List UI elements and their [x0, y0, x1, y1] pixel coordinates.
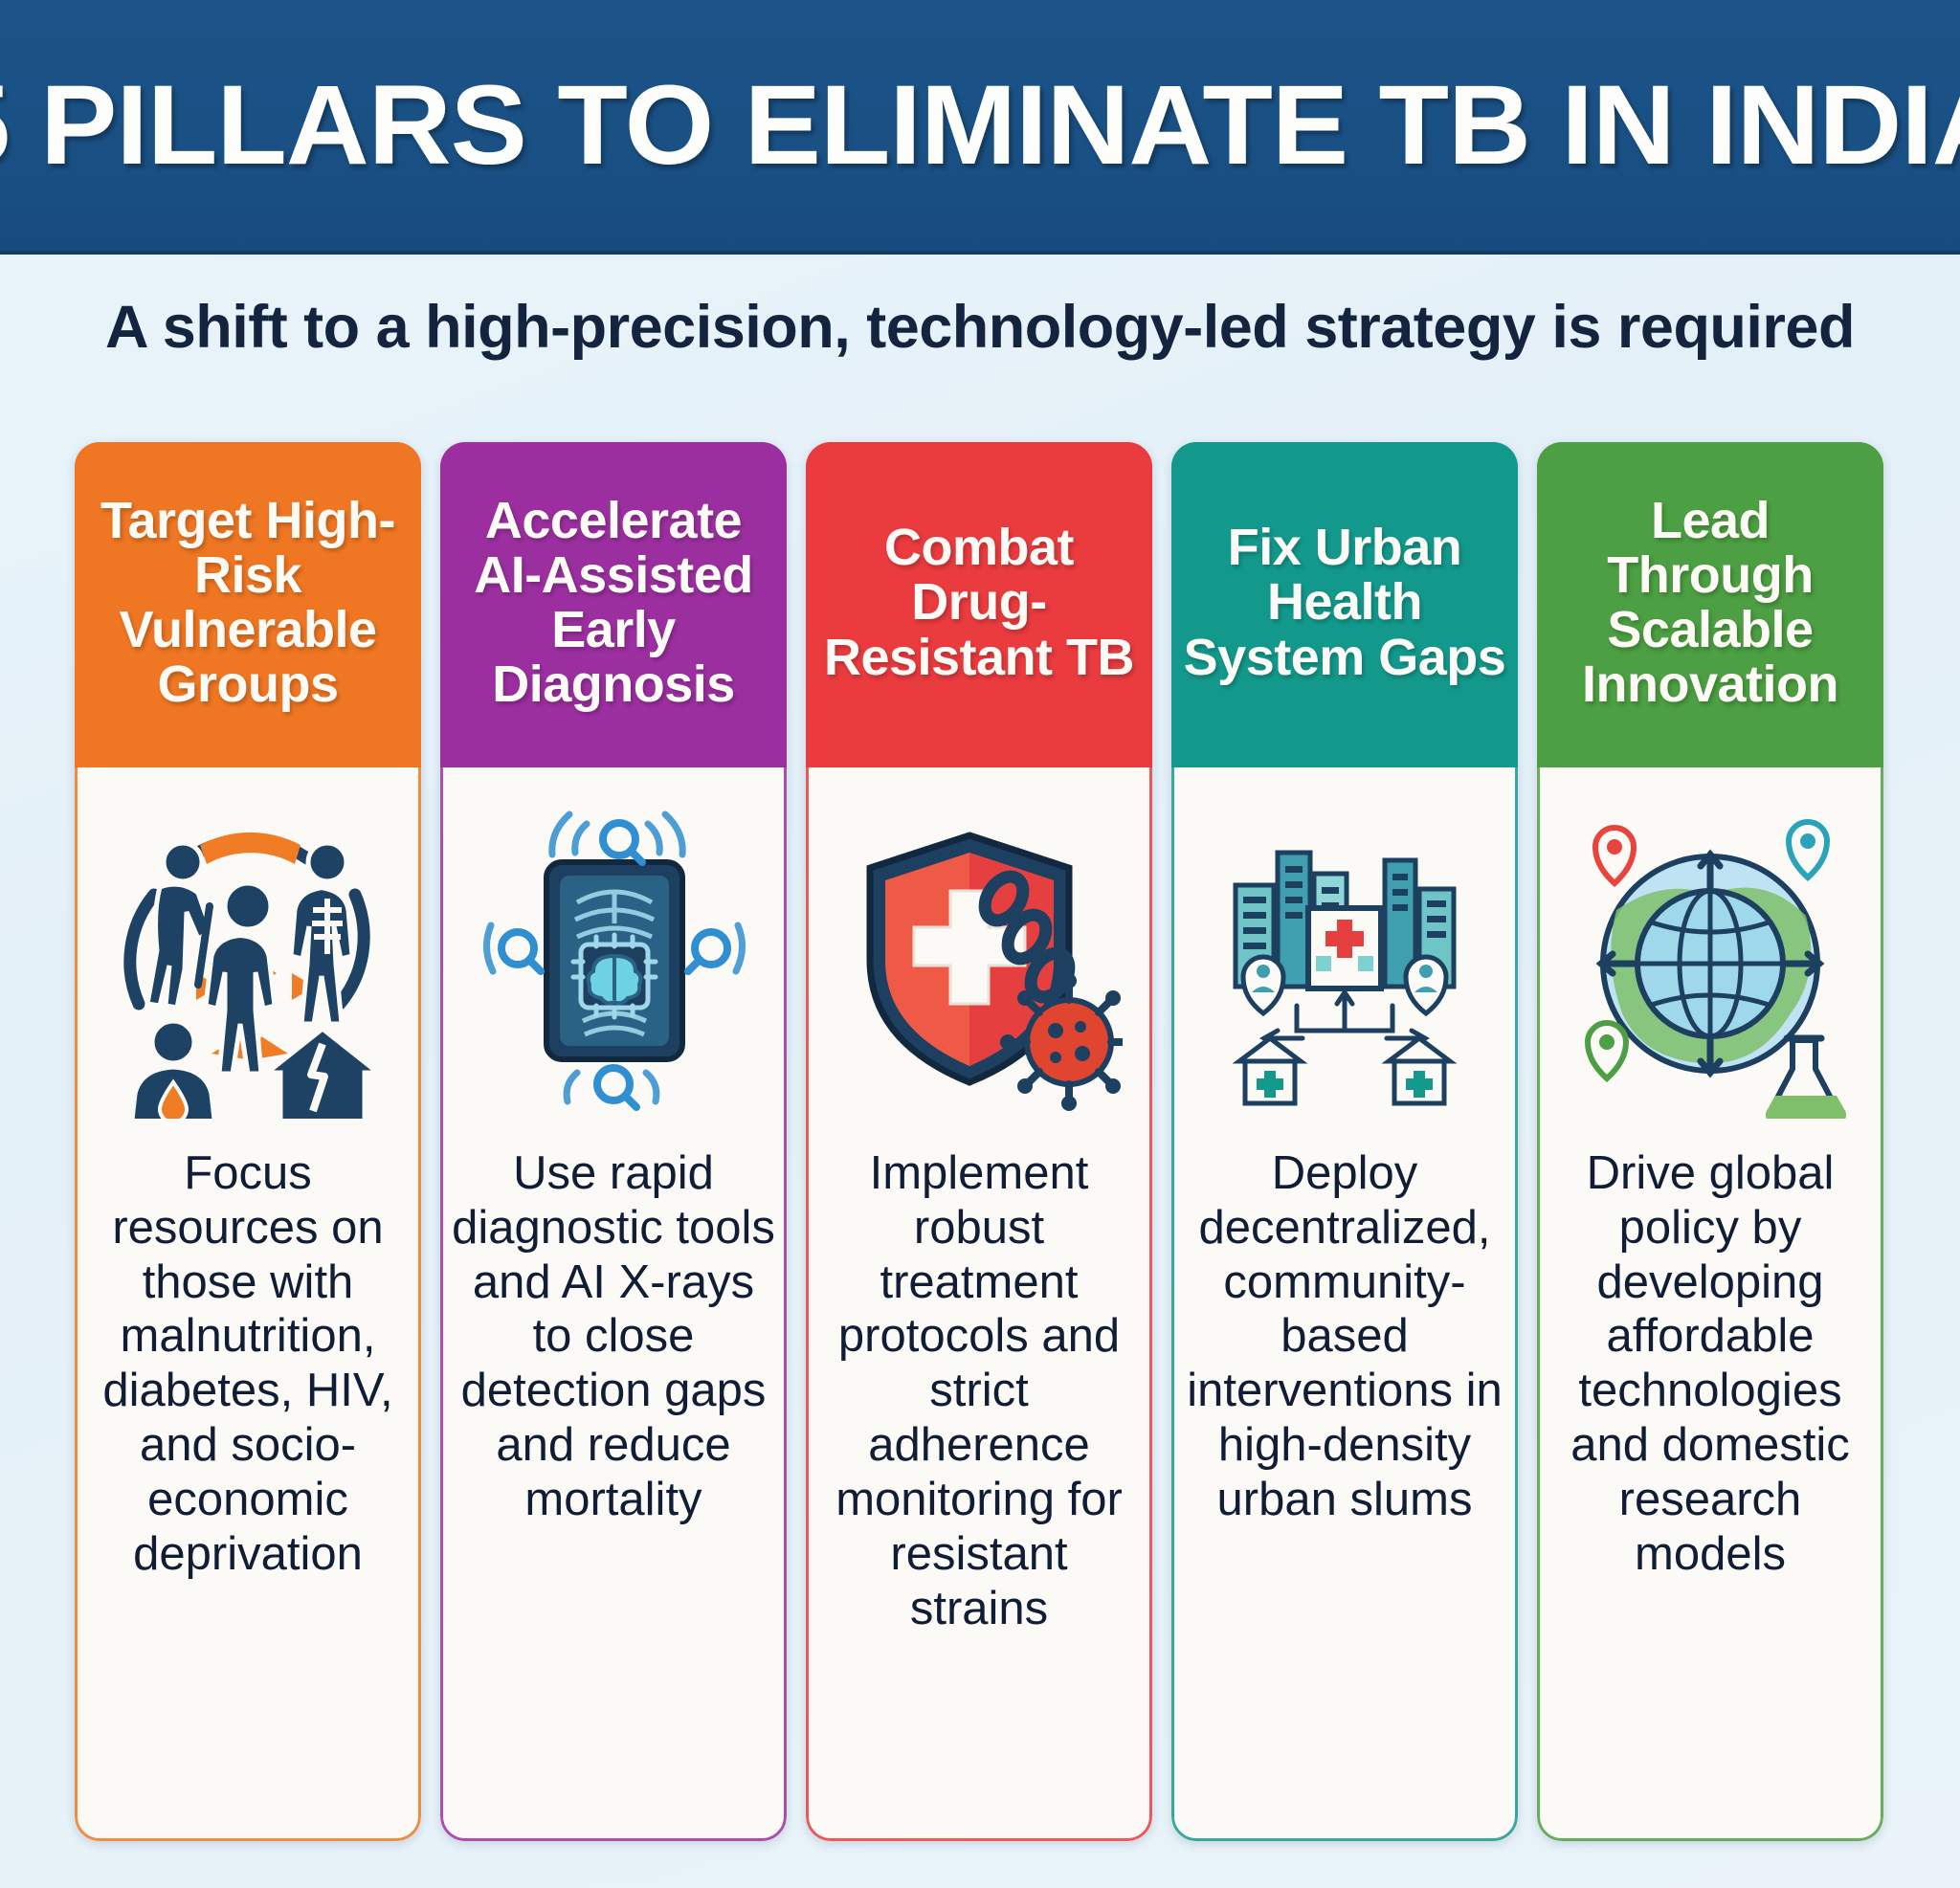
pillar-card-5-header: Lead Through Scalable Innovation: [1537, 442, 1883, 767]
pillar-card-5-description: Drive global policy by developing afford…: [1548, 1146, 1872, 1582]
ai-xray-chip-icon: [440, 767, 787, 1141]
subtitle-text: A shift to a high-precision, technology-…: [105, 293, 1855, 362]
subtitle-row: A shift to a high-precision, technology-…: [0, 251, 1960, 404]
global-innovation-globe-icon: [1537, 767, 1883, 1141]
shield-chain-virus-icon: [806, 767, 1152, 1141]
pillar-card-5-title: Lead Through Scalable Innovation: [1545, 494, 1876, 713]
pillar-card-5-body: Drive global policy by developing afford…: [1537, 1141, 1883, 1841]
pillar-card-5[interactable]: Lead Through Scalable Innovation: [1537, 442, 1883, 1841]
pillar-card-4-body: Deploy decentralized, community-based in…: [1171, 1141, 1518, 1841]
header-band: 5 PILLARS TO ELIMINATE TB IN INDIA: [0, 0, 1960, 255]
pillar-card-3-description: Implement robust treatment protocols and…: [817, 1146, 1141, 1635]
pillar-card-3-title: Combat Drug-Resistant TB: [813, 521, 1145, 685]
pillar-card-2-description: Use rapid diagnostic tools and AI X-rays…: [452, 1146, 775, 1527]
pillar-card-4-header: Fix Urban Health System Gaps: [1171, 442, 1518, 767]
pillar-card-1-description: Focus resources on those with malnutriti…: [86, 1146, 410, 1582]
pillar-card-1[interactable]: Target High-Risk Vulnerable Groups: [75, 442, 421, 1841]
infographic-poster: 5 PILLARS TO ELIMINATE TB IN INDIA A shi…: [0, 0, 1960, 1888]
pillar-card-4-title: Fix Urban Health System Gaps: [1179, 521, 1510, 685]
pillar-card-1-title: Target High-Risk Vulnerable Groups: [82, 494, 413, 713]
pillar-card-4[interactable]: Fix Urban Health System Gaps: [1171, 442, 1518, 1841]
vulnerable-groups-icon: [75, 767, 421, 1141]
pillar-card-2[interactable]: Accelerate AI-Assisted Early Diagnosis: [440, 442, 787, 1841]
pillar-card-1-body: Focus resources on those with malnutriti…: [75, 1141, 421, 1841]
urban-health-network-icon: [1171, 767, 1518, 1141]
pillar-card-2-header: Accelerate AI-Assisted Early Diagnosis: [440, 442, 787, 767]
pillar-card-3[interactable]: Combat Drug-Resistant TB: [806, 442, 1152, 1841]
page-title: 5 PILLARS TO ELIMINATE TB IN INDIA: [0, 69, 1960, 182]
pillar-card-1-header: Target High-Risk Vulnerable Groups: [75, 442, 421, 767]
pillar-card-2-title: Accelerate AI-Assisted Early Diagnosis: [448, 494, 779, 713]
pillar-card-3-body: Implement robust treatment protocols and…: [806, 1141, 1152, 1841]
pillar-card-4-description: Deploy decentralized, community-based in…: [1183, 1146, 1506, 1527]
pillar-card-row: Target High-Risk Vulnerable Groups: [75, 442, 1883, 1841]
pillar-card-3-header: Combat Drug-Resistant TB: [806, 442, 1152, 767]
pillar-card-2-body: Use rapid diagnostic tools and AI X-rays…: [440, 1141, 787, 1841]
